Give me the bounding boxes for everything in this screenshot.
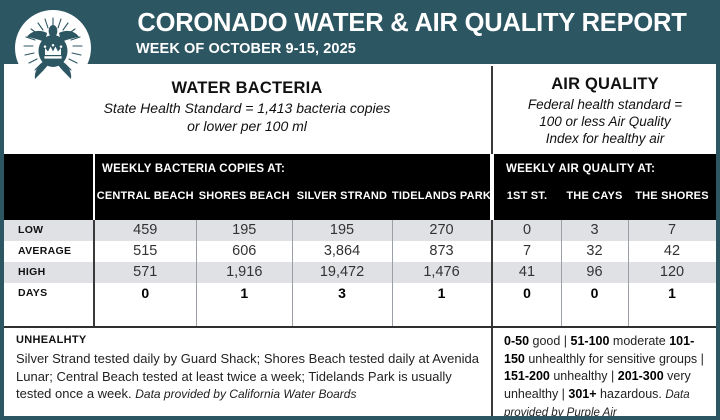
water-cell-average-4: 873 [397, 241, 487, 262]
water-footnote: UNHEALHTY Silver Strand tested daily by … [16, 332, 484, 404]
header-label-divider [93, 154, 95, 220]
air-col-head-3: THE SHORES [612, 190, 720, 202]
water-cell-low-4: 270 [397, 220, 487, 241]
water-cell-days-3: 3 [297, 283, 387, 304]
vrule-rowlabel [93, 220, 95, 326]
report-header: CORONADO WATER & AIR QUALITY REPORT WEEK… [4, 4, 716, 64]
row-label-average: AVERAGE [18, 241, 71, 262]
vrule-water-2 [292, 220, 293, 326]
water-cell-low-2: 195 [199, 220, 289, 241]
aqi-scale-legend: 0-50 good | 51-100 moderate 101-150 unhe… [504, 333, 712, 420]
air-cell-high-3: 120 [627, 262, 717, 283]
water-heading: WATER BACTERIA [4, 78, 490, 98]
water-group-label: WEEKLY BACTERIA COPIES AT: [102, 163, 285, 175]
table-row: DAYS0131001 [4, 283, 716, 304]
water-cell-low-3: 195 [297, 220, 387, 241]
air-group-label: WEEKLY AIR QUALITY AT: [506, 163, 655, 175]
aqi-label-3: unhealthly for sensitive groups | [525, 352, 704, 366]
water-cell-high-1: 571 [100, 262, 190, 283]
section-titles: WATER BACTERIA State Health Standard = 1… [4, 64, 716, 154]
report-footer: UNHEALHTY Silver Strand tested daily by … [4, 328, 716, 416]
water-cell-high-3: 19,472 [297, 262, 387, 283]
water-footnote-heading: UNHEALHTY [16, 332, 484, 348]
air-standard-line1: Federal health standard = [494, 96, 716, 113]
water-cell-days-1: 0 [100, 283, 190, 304]
row-label-days: DAYS [18, 283, 47, 304]
water-cell-low-1: 459 [100, 220, 190, 241]
page-title: CORONADO WATER & AIR QUALITY REPORT [114, 8, 710, 38]
water-cell-average-1: 515 [100, 241, 190, 262]
water-footnote-source: Data provided by California Water Boards [135, 387, 356, 401]
water-section-title: WATER BACTERIA State Health Standard = 1… [4, 64, 490, 135]
water-footnote-body: Silver Strand tested daily by Guard Shac… [16, 350, 484, 404]
row-label-low: LOW [18, 220, 43, 241]
aqi-label-2: moderate [609, 334, 669, 348]
water-cell-high-4: 1,476 [397, 262, 487, 283]
footer-divider [491, 328, 493, 416]
report-week-subtitle: WEEK OF OCTOBER 9-15, 2025 [114, 39, 710, 59]
aqi-range-1: 0-50 [504, 334, 529, 348]
vrule-water-3 [392, 220, 393, 326]
air-cell-days-3: 1 [627, 283, 717, 304]
air-standard-line3: Index for healthy air [494, 130, 716, 147]
table-row: LOW459195195270037 [4, 220, 716, 241]
air-section-title: AIR QUALITY Federal health standard = 10… [494, 64, 716, 147]
water-cell-average-2: 606 [199, 241, 289, 262]
water-standard-line1: State Health Standard = 1,413 bacteria c… [4, 100, 490, 118]
air-cell-average-3: 42 [627, 241, 717, 262]
vrule-air-1 [561, 220, 562, 326]
air-cell-low-2: 3 [550, 220, 640, 241]
air-cell-low-3: 7 [627, 220, 717, 241]
water-cell-days-2: 1 [199, 283, 289, 304]
aqi-range-4: 151-200 [504, 369, 550, 383]
water-cell-days-4: 1 [397, 283, 487, 304]
aqi-label-6: hazardous. [597, 387, 666, 401]
table-row: AVERAGE5156063,86487373242 [4, 241, 716, 262]
table-row: HIGH5711,91619,4721,4764196120 [4, 262, 716, 283]
row-label-high: HIGH [18, 262, 45, 283]
air-heading: AIR QUALITY [494, 74, 716, 94]
air-cell-days-2: 0 [550, 283, 640, 304]
section-divider [491, 66, 493, 154]
vrule-air-2 [628, 220, 629, 326]
water-standard-line2: or lower per 100 ml [4, 118, 490, 136]
water-cell-high-2: 1,916 [199, 262, 289, 283]
report-card: CORONADO WATER & AIR QUALITY REPORT WEEK… [0, 0, 720, 420]
aqi-range-5: 201-300 [618, 369, 664, 383]
aqi-label-1: good | [529, 334, 570, 348]
data-table: LOW459195195270037AVERAGE5156063,8648737… [4, 220, 716, 326]
aqi-range-2: 51-100 [571, 334, 610, 348]
row-label-header-cell [4, 154, 94, 220]
water-cell-average-3: 3,864 [297, 241, 387, 262]
aqi-range-6: 301+ [568, 387, 596, 401]
vrule-section [491, 220, 493, 326]
column-header-band: WEEKLY BACTERIA COPIES AT: WEEKLY AIR QU… [4, 154, 716, 220]
header-title-block: CORONADO WATER & AIR QUALITY REPORT WEEK… [114, 8, 710, 59]
air-standard-line2: 100 or less Air Quality [494, 113, 716, 130]
aqi-label-4: unhealthy | [550, 369, 618, 383]
air-cell-average-2: 32 [550, 241, 640, 262]
vrule-water-1 [196, 220, 197, 326]
air-cell-high-2: 96 [550, 262, 640, 283]
header-band-gap [490, 154, 494, 220]
